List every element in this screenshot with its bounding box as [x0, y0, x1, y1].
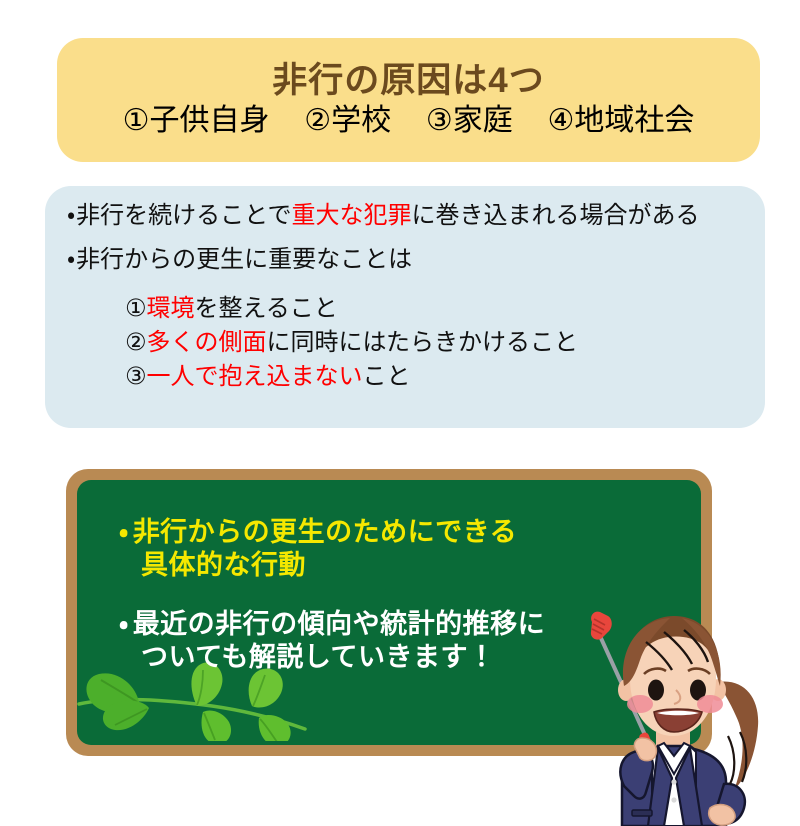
list-rest-3: こと [363, 363, 411, 390]
cause-item-2: ②学校 [304, 104, 391, 137]
list-marker-1: ① [125, 295, 147, 322]
bullet-icon: ・ [67, 246, 75, 273]
info-line-1-part-1: 非行を続けることで [76, 202, 291, 229]
list-item: ③一人で抱え込まないこと [125, 360, 745, 394]
eye-left [648, 680, 664, 701]
list-highlight-1: 環境 [147, 295, 195, 322]
cause-item-4: ④地域社会 [547, 104, 694, 137]
chalkboard-line-2-row-2: ついても解説していきます！ [141, 642, 496, 672]
slide-root: 非行の原因は4つ ①子供自身 ②学校 ③家庭 ④地域社会 ・非行を続けることで重… [0, 0, 800, 826]
bullet-icon: ・ [67, 202, 75, 229]
recovery-key-points-list: ①環境を整えること ②多くの側面に同時にはたらきかけること ③一人で抱え込まない… [67, 292, 745, 394]
page-title: 非行の原因は4つ [272, 61, 544, 101]
chalkboard-line-1-row-1: 非行からの更生のためにできる [133, 517, 517, 547]
hair-strand [728, 736, 734, 784]
info-panel: ・非行を続けることで重大な犯罪に巻き込まれる場合がある ・非行からの更生に重要な… [45, 186, 765, 428]
teacher-illustration [560, 586, 800, 826]
list-highlight-3: 一人で抱え込まない [147, 363, 363, 390]
info-line-1-part-2: に巻き込まれる場合がある [411, 202, 699, 229]
suit-pocket [632, 810, 652, 816]
chalkboard-line-1-row-2: 具体的な行動 [141, 550, 306, 580]
header-box: 非行の原因は4つ ①子供自身 ②学校 ③家庭 ④地域社会 [57, 38, 760, 162]
cause-item-1: ①子供自身 [123, 104, 270, 137]
cheek-left [627, 695, 653, 713]
list-highlight-2: 多くの側面 [147, 329, 267, 356]
chalkboard-line-1: ・非行からの更生のためにできる 具体的な行動 [119, 516, 701, 582]
list-item: ①環境を整えること [125, 292, 745, 326]
cause-item-3: ③家庭 [426, 104, 513, 137]
list-marker-3: ③ [125, 363, 147, 390]
pointer-hand-icon [591, 612, 612, 640]
bullet-icon: ・ [119, 609, 129, 639]
list-item: ②多くの側面に同時にはたらきかけること [125, 326, 745, 360]
header-subtitle: ①子供自身 ②学校 ③家庭 ④地域社会 [123, 103, 695, 139]
blouse-button [671, 797, 676, 802]
info-line-1-highlight: 重大な犯罪 [291, 202, 411, 229]
list-marker-2: ② [125, 329, 147, 356]
info-bullet-line-1: ・非行を続けることで重大な犯罪に巻き込まれる場合がある [67, 204, 745, 228]
blouse-button [671, 779, 676, 784]
list-rest-2: に同時にはたらきかけること [267, 329, 579, 356]
bullet-icon: ・ [119, 517, 129, 547]
info-line-2-text: 非行からの更生に重要なことは [76, 246, 412, 273]
cheek-right [697, 695, 723, 713]
hand-on-hip [709, 805, 735, 826]
chalkboard-line-2-row-1: 最近の非行の傾向や統計的推移に [133, 609, 546, 639]
info-bullet-line-2: ・非行からの更生に重要なことは [67, 248, 745, 272]
list-rest-1: を整えること [195, 295, 338, 322]
